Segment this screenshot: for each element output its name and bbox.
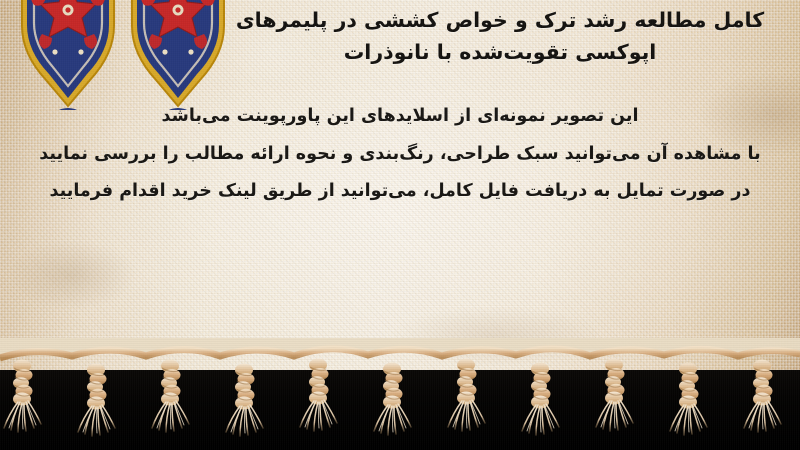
- slide-title: کامل مطالعه رشد ترک و خواص کششی در پلیمر…: [220, 4, 780, 69]
- title-line-2: اپوکسی تقویت‌شده با نانوذرات: [344, 40, 657, 64]
- body-line-2: با مشاهده آن می‌توانید سبک طراحی، رنگ‌بن…: [0, 146, 800, 164]
- body-line-1: این تصویر نمونه‌ای از اسلایدهای این پاور…: [0, 108, 800, 126]
- carpet-fringe-tassels: [0, 338, 800, 450]
- text-layer: کامل مطالعه رشد ترک و خواص کششی در پلیمر…: [0, 0, 800, 382]
- slide-canvas: کامل مطالعه رشد ترک و خواص کششی در پلیمر…: [0, 0, 800, 450]
- title-line-1: کامل مطالعه رشد ترک و خواص کششی در پلیمر…: [236, 8, 764, 32]
- body-line-3: در صورت تمایل به دریافت فایل کامل، می‌تو…: [0, 183, 800, 201]
- slide-body: این تصویر نمونه‌ای از اسلایدهای این پاور…: [0, 108, 800, 201]
